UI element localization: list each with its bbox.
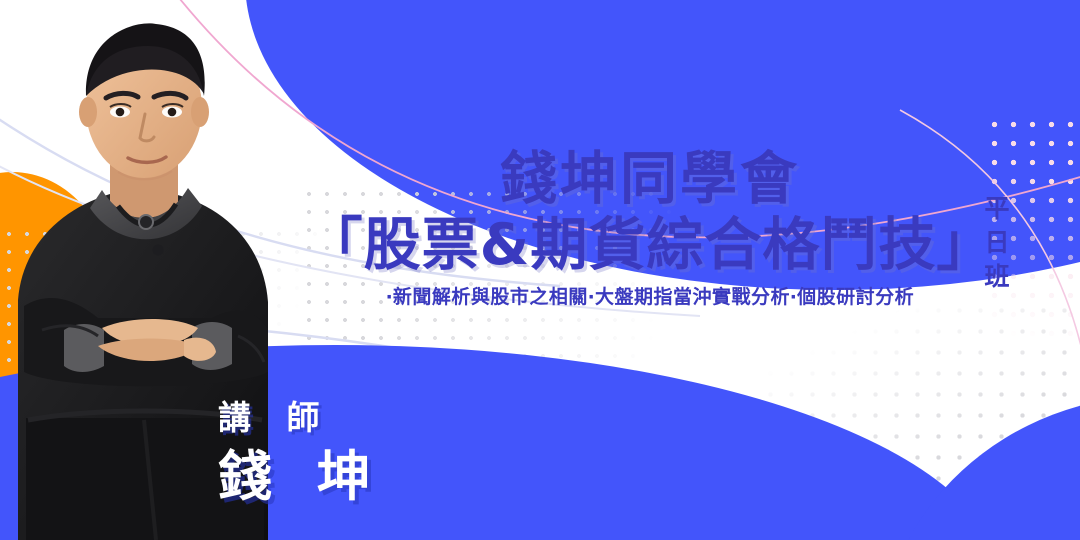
subtitle-topics: ‧新聞解析與股市之相關‧大盤期指當沖實戰分析‧個股研討分析 [300, 285, 1000, 309]
schedule-badge: 平 日 班 [975, 192, 1019, 294]
page-title-line2: 「股票&期貨綜合格鬥技」 [300, 212, 1000, 278]
page-title-line1: 錢坤同學會 [300, 148, 1000, 210]
schedule-badge-char-2: 日 [975, 226, 1019, 260]
title-block: 錢坤同學會 「股票&期貨綜合格鬥技」 ‧新聞解析與股市之相關‧大盤期指當沖實戰分… [300, 148, 1000, 309]
schedule-badge-char-1: 平 [975, 192, 1019, 226]
blue-wave-bottom-right-icon [880, 395, 1080, 540]
promo-banner: 錢坤同學會 「股票&期貨綜合格鬥技」 ‧新聞解析與股市之相關‧大盤期指當沖實戰分… [0, 0, 1080, 540]
schedule-badge-char-3: 班 [975, 260, 1019, 294]
instructor-block: 講 師 錢 坤 [218, 398, 384, 508]
dot-grid-gray-right-icon [760, 300, 1080, 540]
instructor-label: 講 師 [218, 398, 384, 438]
instructor-name: 錢 坤 [218, 446, 384, 508]
